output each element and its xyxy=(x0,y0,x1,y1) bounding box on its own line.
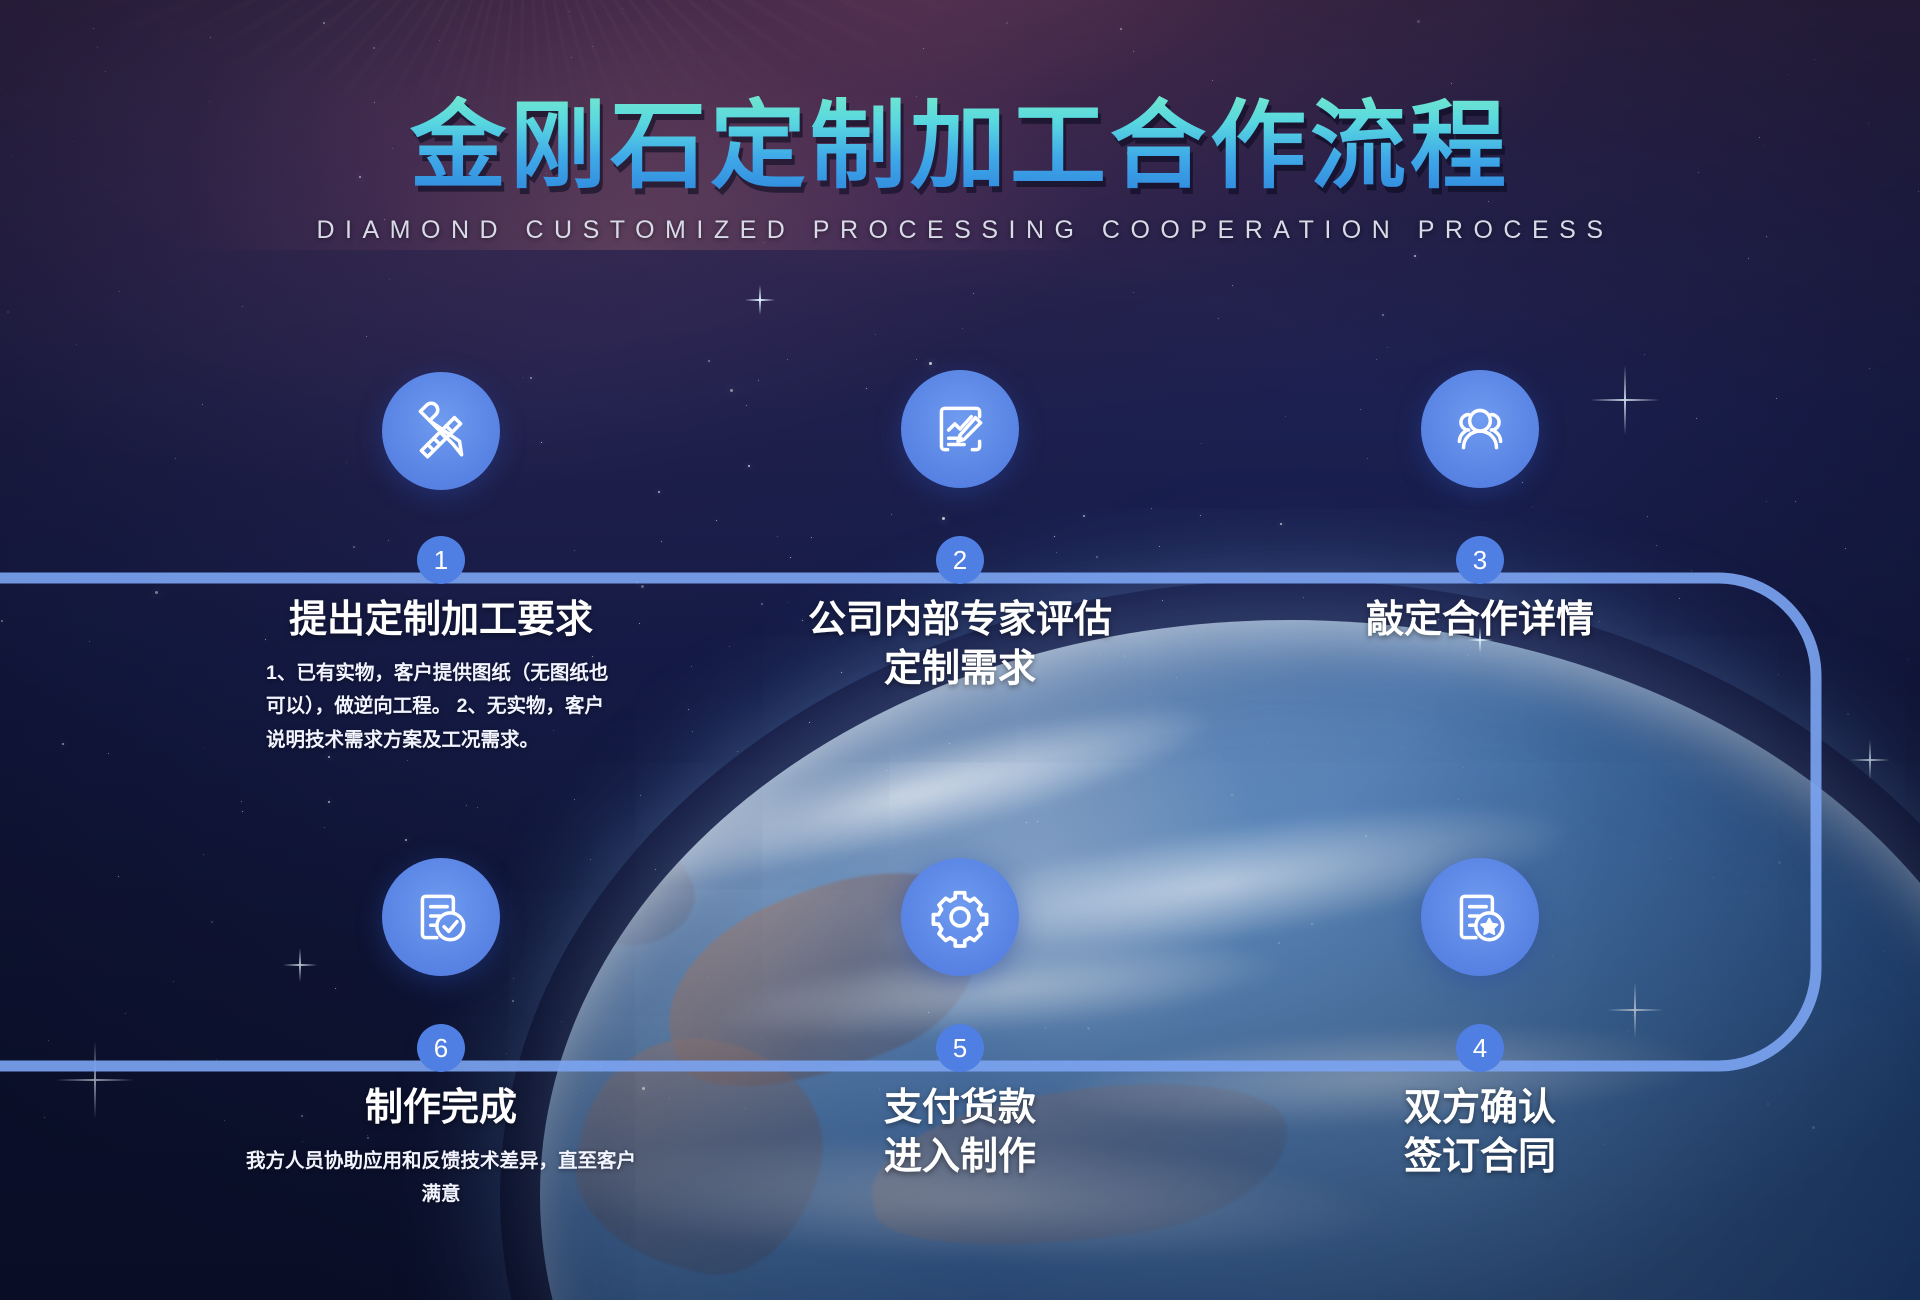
step-icon-circle-6[interactable] xyxy=(382,858,500,976)
step-block-4[interactable]: 4 双方确认 签订合同 xyxy=(1265,1048,1695,1181)
gear-icon xyxy=(927,884,993,950)
step-badge-3[interactable]: 3 xyxy=(1456,536,1504,584)
step-icon-circle-5[interactable] xyxy=(901,858,1019,976)
step-badge-4[interactable]: 4 xyxy=(1456,1024,1504,1072)
document-star-icon xyxy=(1447,884,1513,950)
step-heading-2: 公司内部专家评估 定制需求 xyxy=(745,596,1175,693)
step-badge-2[interactable]: 2 xyxy=(936,536,984,584)
page-subtitle: DIAMOND CUSTOMIZED PROCESSING COOPERATIO… xyxy=(0,216,1920,245)
step-badge-1[interactable]: 1 xyxy=(417,536,465,584)
step-block-2[interactable]: 2 公司内部专家评估 定制需求 xyxy=(745,560,1175,693)
step-heading-6: 制作完成 xyxy=(226,1084,656,1133)
poster-header: 金刚石定制加工合作流程 DIAMOND CUSTOMIZED PROCESSIN… xyxy=(0,96,1920,245)
step-block-1[interactable]: 1 提出定制加工要求 1、已有实物，客户提供图纸（无图纸也可以），做逆向工程。 … xyxy=(226,560,656,757)
step-description-6: 我方人员协助应用和反馈技术差异，直至客户满意 xyxy=(226,1145,656,1212)
step-badge-6[interactable]: 6 xyxy=(417,1024,465,1072)
step-badge-5[interactable]: 5 xyxy=(936,1024,984,1072)
step-icon-circle-4[interactable] xyxy=(1421,858,1539,976)
step-icon-circle-2[interactable] xyxy=(901,370,1019,488)
step-block-6[interactable]: 6 制作完成 我方人员协助应用和反馈技术差异，直至客户满意 xyxy=(226,1048,656,1212)
people-group-icon xyxy=(1447,396,1513,462)
page-title: 金刚石定制加工合作流程 xyxy=(0,96,1920,198)
step-icon-circle-1[interactable] xyxy=(382,372,500,490)
document-check-icon xyxy=(408,884,474,950)
document-chart-pencil-icon xyxy=(927,396,993,462)
ruler-pencil-icon xyxy=(408,398,474,464)
step-heading-1: 提出定制加工要求 xyxy=(226,596,656,645)
step-heading-4: 双方确认 签订合同 xyxy=(1265,1084,1695,1181)
step-block-5[interactable]: 5 支付货款 进入制作 xyxy=(745,1048,1175,1181)
step-heading-5: 支付货款 进入制作 xyxy=(745,1084,1175,1181)
step-heading-3: 敲定合作详情 xyxy=(1265,596,1695,645)
step-description-1: 1、已有实物，客户提供图纸（无图纸也可以），做逆向工程。 2、无实物，客户说明技… xyxy=(226,657,656,758)
step-icon-circle-3[interactable] xyxy=(1421,370,1539,488)
step-block-3[interactable]: 3 敲定合作详情 xyxy=(1265,560,1695,645)
